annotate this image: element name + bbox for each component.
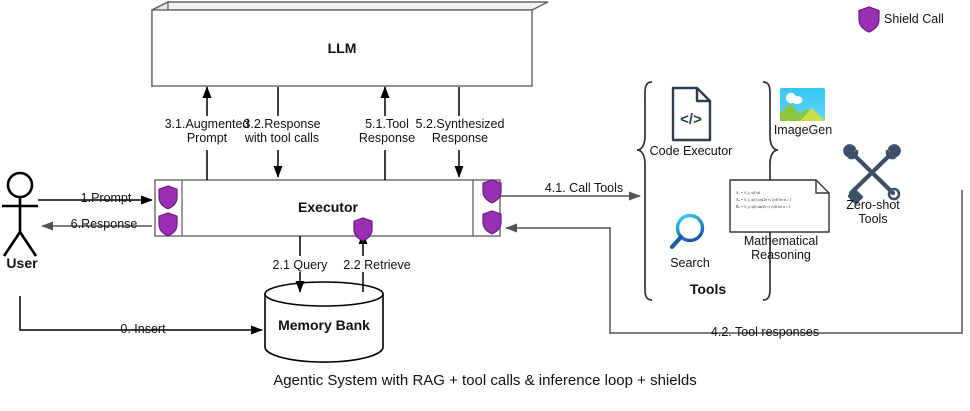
edge-label-1-prompt: 1.Prompt [58,191,154,205]
edge-label-2-1-query: 2.1 Query [262,258,338,272]
edge-label-5-2: 5.2.Synthesized Response [404,117,516,145]
tool-label-zero-shot-tools: Zero-shot Tools [836,198,910,226]
imagegen-icon [780,88,825,121]
user-actor[interactable] [2,173,38,256]
edge-label-0-insert: 0. Insert [88,322,198,336]
math-line: Aₙ = ²⁄ₚ ∫ₚ x(t) cos(2π ⁿ⁄ₚ t) dt for n … [736,197,824,204]
diagram-svg: </> [0,0,970,411]
tool-label-math-reasoning: Mathematical Reasoning [733,234,829,262]
tool-label-code-executor: Code Executor [646,144,736,158]
legend-label: Shield Call [884,12,968,26]
shield-icon-legend [859,7,879,32]
edge-label-3-2: 3.2.Response with tool calls [226,117,338,145]
shield-icon [483,211,501,234]
search-icon [672,216,703,248]
executor-label: Executor [258,200,398,214]
edge-label-4-1-call-tools: 4.1. Call Tools [529,181,639,195]
crossed-tools-icon [844,145,899,203]
math-line: Bₙ = ²⁄ₚ ∫ₚ x(t) sin(2π ⁿ⁄ₚ t) dt for n … [736,204,824,211]
llm-label: LLM [272,41,412,55]
edge-label-6-response: 6.Response [52,217,156,231]
edge-label-4-2-tool-responses: 4.2. Tool responses [672,325,858,339]
tool-label-search: Search [659,256,721,270]
shield-icon [354,218,372,241]
diagram-canvas: </> [0,0,970,411]
user-label: User [0,256,44,270]
math-formula-block: A₀ = ¹⁄ₚ ∫ₚ x(t) dt Aₙ = ²⁄ₚ ∫ₚ x(t) cos… [736,190,824,211]
code-executor-icon: </> [673,88,710,140]
diagram-caption: Agentic System with RAG + tool calls & i… [0,372,970,389]
tool-label-imagegen: ImageGen [767,123,839,137]
edge-label-2-2-retrieve: 2.2 Retrieve [332,258,422,272]
shield-icon [159,186,177,209]
shield-icon [483,180,501,203]
math-line: A₀ = ¹⁄ₚ ∫ₚ x(t) dt [736,190,824,197]
memory-bank-label: Memory Bank [264,318,384,332]
svg-text:</>: </> [680,111,702,128]
shield-icon [159,213,177,236]
tools-group-label: Tools [668,282,748,296]
